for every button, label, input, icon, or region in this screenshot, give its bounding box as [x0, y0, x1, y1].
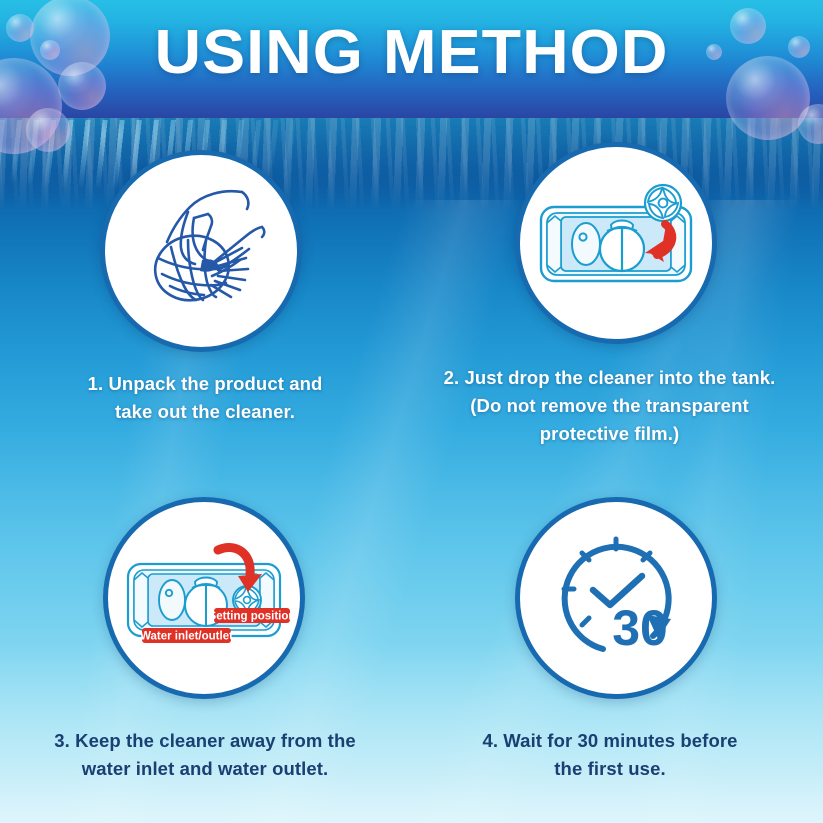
hand-unpacking-cleaner-icon — [126, 176, 276, 326]
poster-root: USING METHOD — [0, 0, 823, 823]
caption-line: water inlet and water outlet. — [20, 755, 390, 783]
step-1: 1. Unpack the product and take out the c… — [20, 150, 390, 426]
caption-line: 1. Unpack the product and — [20, 370, 390, 398]
drop-cleaner-into-tank-icon — [535, 183, 697, 303]
step-2-icon-circle — [515, 142, 717, 344]
svg-text:Setting position: Setting position — [209, 611, 290, 623]
step-3-caption: 3. Keep the cleaner away from the water … — [20, 727, 390, 783]
step-2-caption: 2. Just drop the cleaner into the tank. … — [417, 364, 802, 448]
caption-line: 3. Keep the cleaner away from the — [20, 727, 390, 755]
cleaner-puck-icon — [645, 185, 681, 221]
step-3-icon-circle: Setting position Water inlet/outlet — [103, 497, 305, 699]
step-1-icon-circle — [100, 150, 302, 352]
water-inlet-outlet-label: Water inlet/outlet — [140, 628, 233, 643]
caption-line: (Do not remove the transparent — [417, 392, 802, 420]
clock-minutes-value: 30 — [612, 600, 668, 656]
caption-line: 4. Wait for 30 minutes before — [425, 727, 795, 755]
step-4-icon-circle: 30 — [515, 497, 717, 699]
step-4-caption: 4. Wait for 30 minutes before the first … — [425, 727, 795, 783]
caption-line: 2. Just drop the cleaner into the tank. — [417, 364, 802, 392]
caption-line: the first use. — [425, 755, 795, 783]
clock-30-minutes-icon: 30 — [541, 523, 691, 673]
caption-line: take out the cleaner. — [20, 398, 390, 426]
setting-position-label: Setting position — [209, 608, 290, 623]
tank-inlet-outlet-warning-icon: Setting position Water inlet/outlet — [118, 534, 290, 662]
step-4: 30 4. Wait for 30 minutes before the fir… — [425, 497, 795, 783]
step-3: Setting position Water inlet/outlet 3. K… — [20, 497, 390, 783]
step-1-caption: 1. Unpack the product and take out the c… — [20, 370, 390, 426]
page-title: USING METHOD — [0, 16, 823, 90]
caption-line: protective film.) — [417, 420, 802, 448]
svg-text:Water inlet/outlet: Water inlet/outlet — [140, 631, 233, 643]
step-2: 2. Just drop the cleaner into the tank. … — [425, 142, 795, 448]
